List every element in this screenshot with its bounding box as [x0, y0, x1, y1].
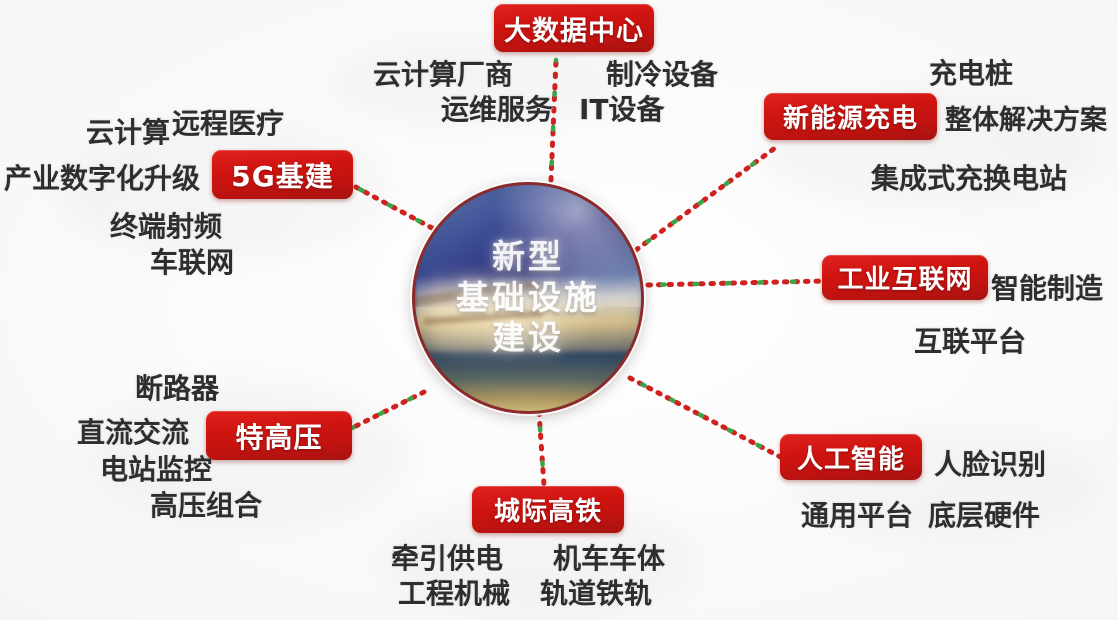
hub-title-line-1: 新型 — [492, 239, 564, 276]
keyword-dc-ac: 直流交流 — [77, 411, 189, 451]
center-hub[interactable]: 新型 基础设施 建设 — [412, 182, 644, 414]
keyword-integrated-swap-station: 集成式充换电站 — [871, 157, 1067, 197]
keyword-traction-power: 牵引供电 — [391, 537, 503, 577]
badge-intercity-high-speed-rail[interactable]: 城际高铁 — [472, 486, 624, 533]
keyword-face-recognition: 人脸识别 — [934, 443, 1046, 483]
keyword-hv-assembly: 高压组合 — [150, 484, 262, 524]
keyword-interconnect-platform: 互联平台 — [914, 320, 1026, 360]
hub-title: 新型 基础设施 建设 — [415, 185, 641, 411]
keyword-track-rail: 轨道铁轨 — [540, 572, 652, 612]
keyword-engineering-machinery: 工程机械 — [398, 572, 510, 612]
keyword-smart-manufacturing: 智能制造 — [991, 267, 1103, 307]
connector-industrial-internet — [648, 281, 824, 285]
hub-title-line-2: 基础设施 — [456, 280, 600, 317]
connector-new-energy — [636, 148, 775, 250]
infographic-canvas: 新型 基础设施 建设 大数据中心 新能源充电 工业互联网 人工智能 城际高铁 特… — [0, 0, 1118, 620]
badge-5g-infrastructure[interactable]: 5G基建 — [212, 150, 353, 199]
keyword-base-hardware: 底层硬件 — [928, 494, 1040, 534]
badge-uhv-power[interactable]: 特高压 — [206, 411, 352, 460]
badge-big-data-center[interactable]: 大数据中心 — [494, 4, 654, 52]
keyword-it-equipment: IT设备 — [579, 88, 665, 128]
keyword-circuit-breaker: 断路器 — [135, 367, 219, 407]
keyword-cloud-computing: 云计算 — [86, 111, 170, 151]
keyword-cooling-equipment: 制冷设备 — [606, 53, 718, 93]
keyword-charging-pile: 充电桩 — [929, 52, 1013, 92]
keyword-ops-service: 运维服务 — [441, 88, 553, 128]
keyword-telemedicine: 远程医疗 — [172, 102, 284, 142]
keyword-industry-digital-upgrade: 产业数字化升级 — [4, 157, 200, 197]
hub-title-line-3: 建设 — [492, 320, 564, 357]
keyword-locomotive-body: 机车车体 — [553, 537, 665, 577]
keyword-iov: 车联网 — [150, 241, 234, 281]
badge-industrial-internet[interactable]: 工业互联网 — [822, 255, 988, 300]
badge-new-energy-charging[interactable]: 新能源充电 — [764, 93, 937, 140]
keyword-cloud-vendor: 云计算厂商 — [373, 53, 513, 93]
keyword-total-solution: 整体解决方案 — [945, 98, 1107, 137]
keyword-general-platform: 通用平台 — [801, 494, 913, 534]
badge-artificial-intelligence[interactable]: 人工智能 — [780, 434, 922, 480]
keyword-station-monitoring: 电站监控 — [100, 448, 212, 488]
connector-artificial-intelligence — [630, 378, 790, 462]
keyword-terminal-rf: 终端射频 — [110, 205, 222, 245]
connector-uhv — [352, 392, 424, 428]
